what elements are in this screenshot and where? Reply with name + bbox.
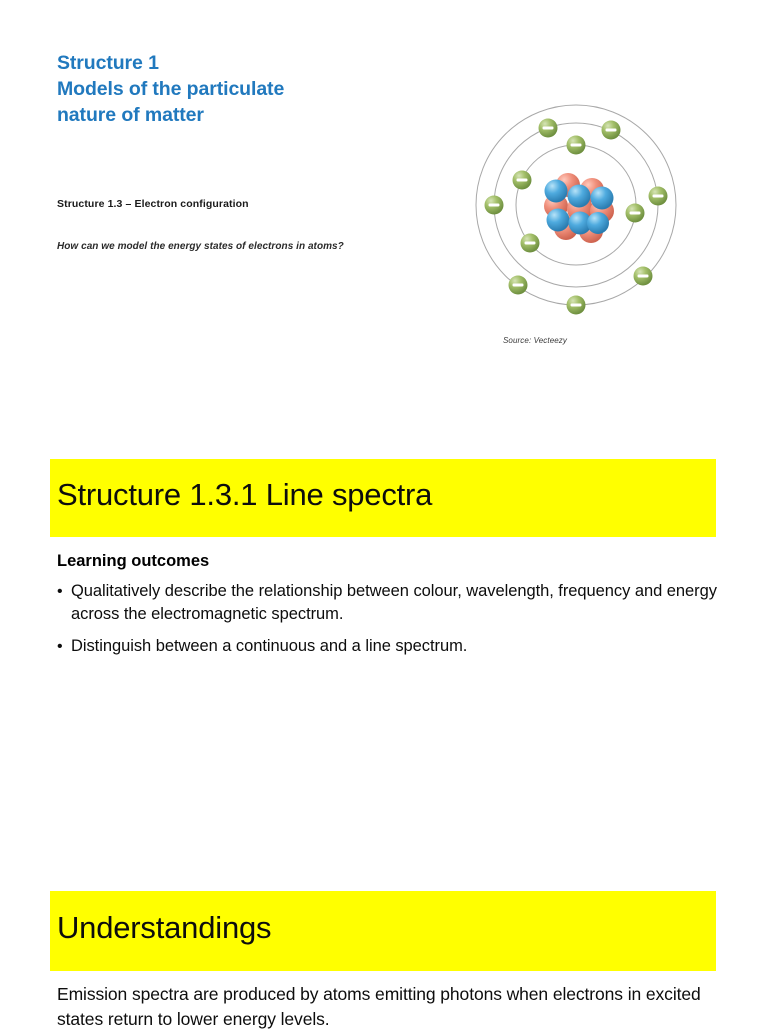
title-line-1: Structure 1: [57, 50, 417, 76]
electron: [509, 276, 528, 295]
atomic-nucleus: [544, 173, 614, 243]
atom-diagram: Source: Vecteezy: [446, 78, 706, 348]
learning-outcomes-heading: Learning outcomes: [57, 550, 717, 572]
line-spectra-banner-title: Structure 1.3.1 Line spectra: [57, 477, 432, 513]
understandings-banner-title: Understandings: [57, 910, 271, 946]
title-line-3: nature of matter: [57, 102, 417, 128]
learning-outcomes-list: Qualitatively describe the relationship …: [57, 580, 717, 658]
source-caption: Source: Vecteezy: [503, 336, 567, 345]
electron: [567, 136, 586, 155]
guiding-question: How can we model the energy states of el…: [57, 240, 344, 254]
slide-page: Structure 1 Models of the particulate na…: [0, 0, 768, 1024]
electron: [513, 171, 532, 190]
understandings-banner: Understandings: [50, 891, 716, 971]
page-title: Structure 1 Models of the particulate na…: [57, 50, 417, 128]
sub-heading: Structure 1.3 – Electron configuration: [57, 197, 249, 211]
electron: [602, 121, 621, 140]
electron: [521, 234, 540, 253]
electron: [649, 187, 668, 206]
electron: [539, 119, 558, 138]
line-spectra-banner: Structure 1.3.1 Line spectra: [50, 459, 716, 537]
title-line-2: Models of the particulate: [57, 76, 417, 102]
electron: [634, 267, 653, 286]
electron: [485, 196, 504, 215]
atom-illustration-svg: [446, 78, 706, 328]
electron: [567, 296, 586, 315]
learning-outcomes-section: Learning outcomes Qualitatively describe…: [57, 550, 717, 667]
understandings-body-text: Emission spectra are produced by atoms e…: [57, 982, 737, 1032]
list-item: Qualitatively describe the relationship …: [57, 580, 717, 626]
electron: [626, 204, 645, 223]
list-item: Distinguish between a continuous and a l…: [57, 635, 717, 658]
